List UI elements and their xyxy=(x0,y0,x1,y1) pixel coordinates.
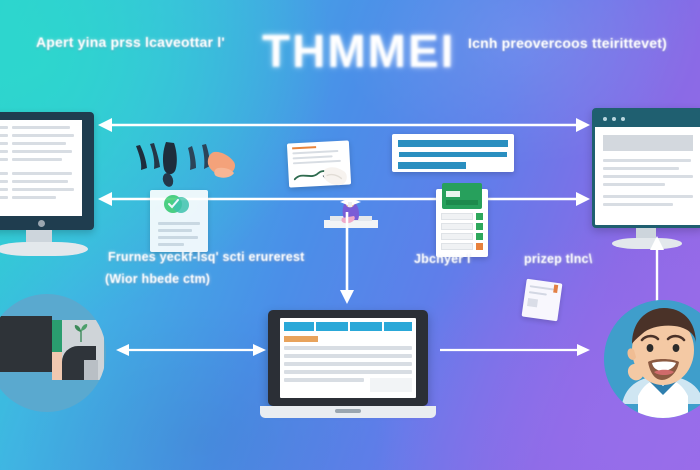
laptop-accent-bar xyxy=(284,336,318,342)
caption-mid-label: Jbcnyer l xyxy=(414,252,471,266)
caption-right-label: prizep tlnc\ xyxy=(524,252,592,266)
illustration-canvas: Apert yina prss lcaveottar l' THMMEI Icn… xyxy=(0,0,700,470)
progress-bars-card[interactable] xyxy=(392,134,514,172)
headline-main-text: THMMEI xyxy=(262,24,455,78)
arrow-bottom-right xyxy=(440,342,590,358)
plant-icon xyxy=(70,322,92,344)
arrow-bottom-left xyxy=(116,342,266,358)
caption-left-line2: (Wior hbede ctm) xyxy=(105,272,210,286)
monitor-stand-base xyxy=(0,242,88,256)
abstract-shape-cluster-left xyxy=(130,142,240,197)
browser-window-monitor[interactable] xyxy=(592,108,700,253)
progress-bar-1 xyxy=(398,140,508,147)
monitor-screen xyxy=(0,120,82,216)
arrow-row-top xyxy=(98,117,590,133)
workspace-monitor xyxy=(0,316,52,372)
browser-monitor-base xyxy=(612,238,682,249)
caption-left-line1: Frurnes yeckf-lsq' scti erurerest xyxy=(108,250,304,264)
laptop-header-bar xyxy=(284,322,412,331)
signature-document-card[interactable] xyxy=(287,140,351,187)
browser-heading-block xyxy=(603,135,693,151)
window-dot-maximize-icon[interactable] xyxy=(621,117,625,121)
status-square-2 xyxy=(476,223,483,230)
small-paper-card[interactable] xyxy=(522,279,563,322)
window-dot-minimize-icon[interactable] xyxy=(612,117,616,121)
arrow-down-center xyxy=(338,212,356,304)
badge-icon xyxy=(162,194,192,216)
certificate-card[interactable] xyxy=(150,190,208,252)
browser-window xyxy=(592,108,700,228)
progress-bar-3 xyxy=(398,162,466,169)
laptop-screen xyxy=(280,318,416,398)
laptop-trackpad-notch xyxy=(335,409,361,413)
window-dot-close-icon[interactable] xyxy=(603,117,607,121)
hand-holding-pen-icon xyxy=(322,158,358,190)
desktop-monitor[interactable] xyxy=(0,112,106,260)
headline-left-text: Apert yina prss lcaveottar l' xyxy=(36,34,225,50)
status-square-4 xyxy=(476,243,483,250)
status-square-1 xyxy=(476,213,483,220)
browser-titlebar xyxy=(595,111,700,127)
headline-right-text: Icnh preovercoos tteirittevet) xyxy=(468,35,667,51)
checklist-clipboard[interactable] xyxy=(436,183,488,257)
clipboard-header xyxy=(442,183,482,209)
status-square-3 xyxy=(476,233,483,240)
monitor-power-indicator xyxy=(38,220,45,227)
laptop[interactable] xyxy=(268,310,444,422)
